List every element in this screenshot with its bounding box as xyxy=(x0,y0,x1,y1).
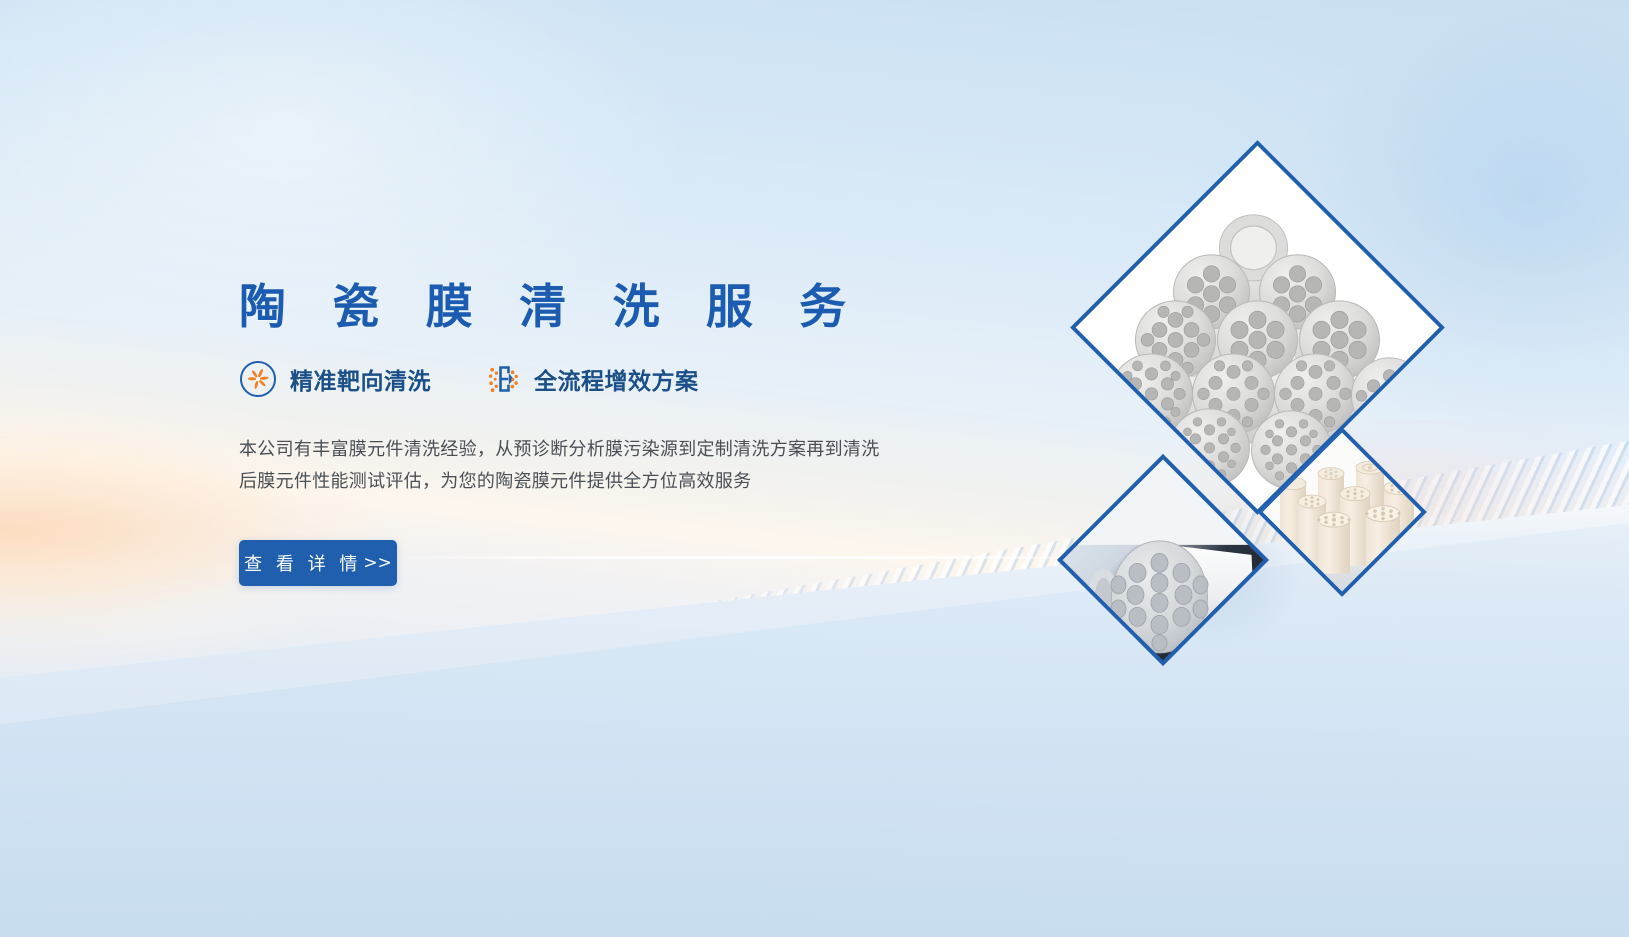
double-chevron-right-icon: >> xyxy=(363,553,392,573)
hero-description: 本公司有丰富膜元件清洗经验，从预诊断分析膜污染源到定制清洗方案再到清洗 后膜元件… xyxy=(239,434,919,498)
hero-banner: 陶 瓷 膜 清 洗 服 务 xyxy=(0,0,1629,937)
pinwheel-circle-icon xyxy=(239,360,277,398)
product-diamond-stacked-tubes[interactable] xyxy=(1070,140,1445,515)
description-line-1: 本公司有丰富膜元件清洗经验，从预诊断分析膜污染源到定制清洗方案再到清洗 xyxy=(239,434,919,466)
view-details-label: 查 看 详 情 xyxy=(244,550,361,576)
description-line-2: 后膜元件性能测试评估，为您的陶瓷膜元件提供全方位高效服务 xyxy=(239,466,919,498)
hero-content: 陶 瓷 膜 清 洗 服 务 xyxy=(239,0,999,937)
feature-label: 精准靶向清洗 xyxy=(290,362,431,396)
feature-item-precision-cleaning: 精准靶向清洗 xyxy=(239,360,431,398)
product-image-cluster xyxy=(1040,160,1460,660)
view-details-button[interactable]: 查 看 详 情 >> xyxy=(239,540,397,586)
dotted-flow-arrow-icon xyxy=(483,360,521,398)
product-photo-stacked-tubes xyxy=(1070,144,1445,515)
feature-label: 全流程增效方案 xyxy=(534,362,699,396)
page-title: 陶 瓷 膜 清 洗 服 务 xyxy=(239,268,861,337)
feature-list: 精准靶向清洗 xyxy=(239,360,699,398)
feature-item-full-process-solution: 全流程增效方案 xyxy=(483,360,699,398)
